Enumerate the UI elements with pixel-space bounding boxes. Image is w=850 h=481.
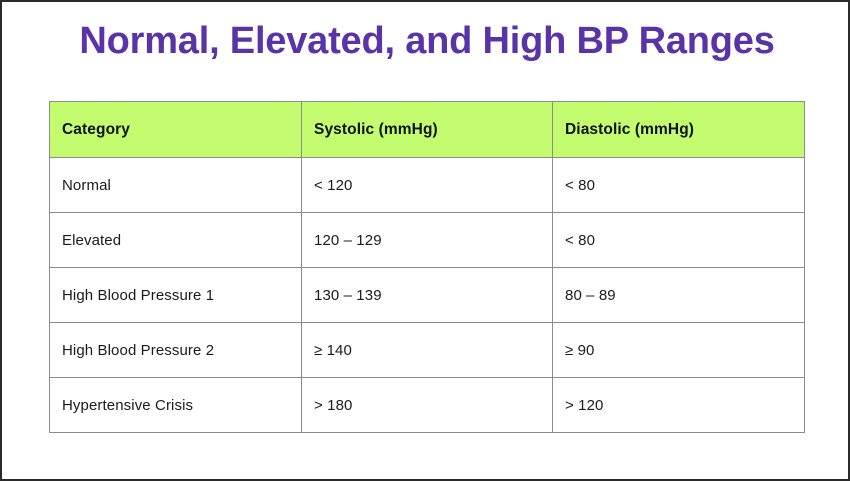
column-header-systolic: Systolic (mmHg) bbox=[302, 102, 553, 158]
column-header-diastolic: Diastolic (mmHg) bbox=[553, 102, 805, 158]
cell-category: High Blood Pressure 2 bbox=[50, 323, 302, 378]
cell-category: Normal bbox=[50, 158, 302, 213]
slide-canvas: Normal, Elevated, and High BP Ranges Cat… bbox=[0, 0, 850, 481]
table-row: Hypertensive Crisis > 180 > 120 bbox=[50, 378, 805, 433]
bp-ranges-table-container: Category Systolic (mmHg) Diastolic (mmHg… bbox=[49, 101, 804, 433]
cell-diastolic: < 80 bbox=[553, 213, 805, 268]
page-title: Normal, Elevated, and High BP Ranges bbox=[40, 18, 814, 64]
cell-category: Hypertensive Crisis bbox=[50, 378, 302, 433]
cell-diastolic: > 120 bbox=[553, 378, 805, 433]
table-header: Category Systolic (mmHg) Diastolic (mmHg… bbox=[50, 102, 805, 158]
table-row: Normal < 120 < 80 bbox=[50, 158, 805, 213]
table-row: Elevated 120 – 129 < 80 bbox=[50, 213, 805, 268]
cell-systolic: ≥ 140 bbox=[302, 323, 553, 378]
cell-diastolic: < 80 bbox=[553, 158, 805, 213]
cell-systolic: 120 – 129 bbox=[302, 213, 553, 268]
table-body: Normal < 120 < 80 Elevated 120 – 129 < 8… bbox=[50, 158, 805, 433]
table-header-row: Category Systolic (mmHg) Diastolic (mmHg… bbox=[50, 102, 805, 158]
cell-systolic: < 120 bbox=[302, 158, 553, 213]
cell-diastolic: ≥ 90 bbox=[553, 323, 805, 378]
slide-content-area: Normal, Elevated, and High BP Ranges Cat… bbox=[2, 2, 848, 479]
cell-systolic: 130 – 139 bbox=[302, 268, 553, 323]
table-row: High Blood Pressure 1 130 – 139 80 – 89 bbox=[50, 268, 805, 323]
table-row: High Blood Pressure 2 ≥ 140 ≥ 90 bbox=[50, 323, 805, 378]
cell-category: High Blood Pressure 1 bbox=[50, 268, 302, 323]
bp-ranges-table: Category Systolic (mmHg) Diastolic (mmHg… bbox=[49, 101, 805, 433]
cell-diastolic: 80 – 89 bbox=[553, 268, 805, 323]
column-header-category: Category bbox=[50, 102, 302, 158]
cell-systolic: > 180 bbox=[302, 378, 553, 433]
cell-category: Elevated bbox=[50, 213, 302, 268]
